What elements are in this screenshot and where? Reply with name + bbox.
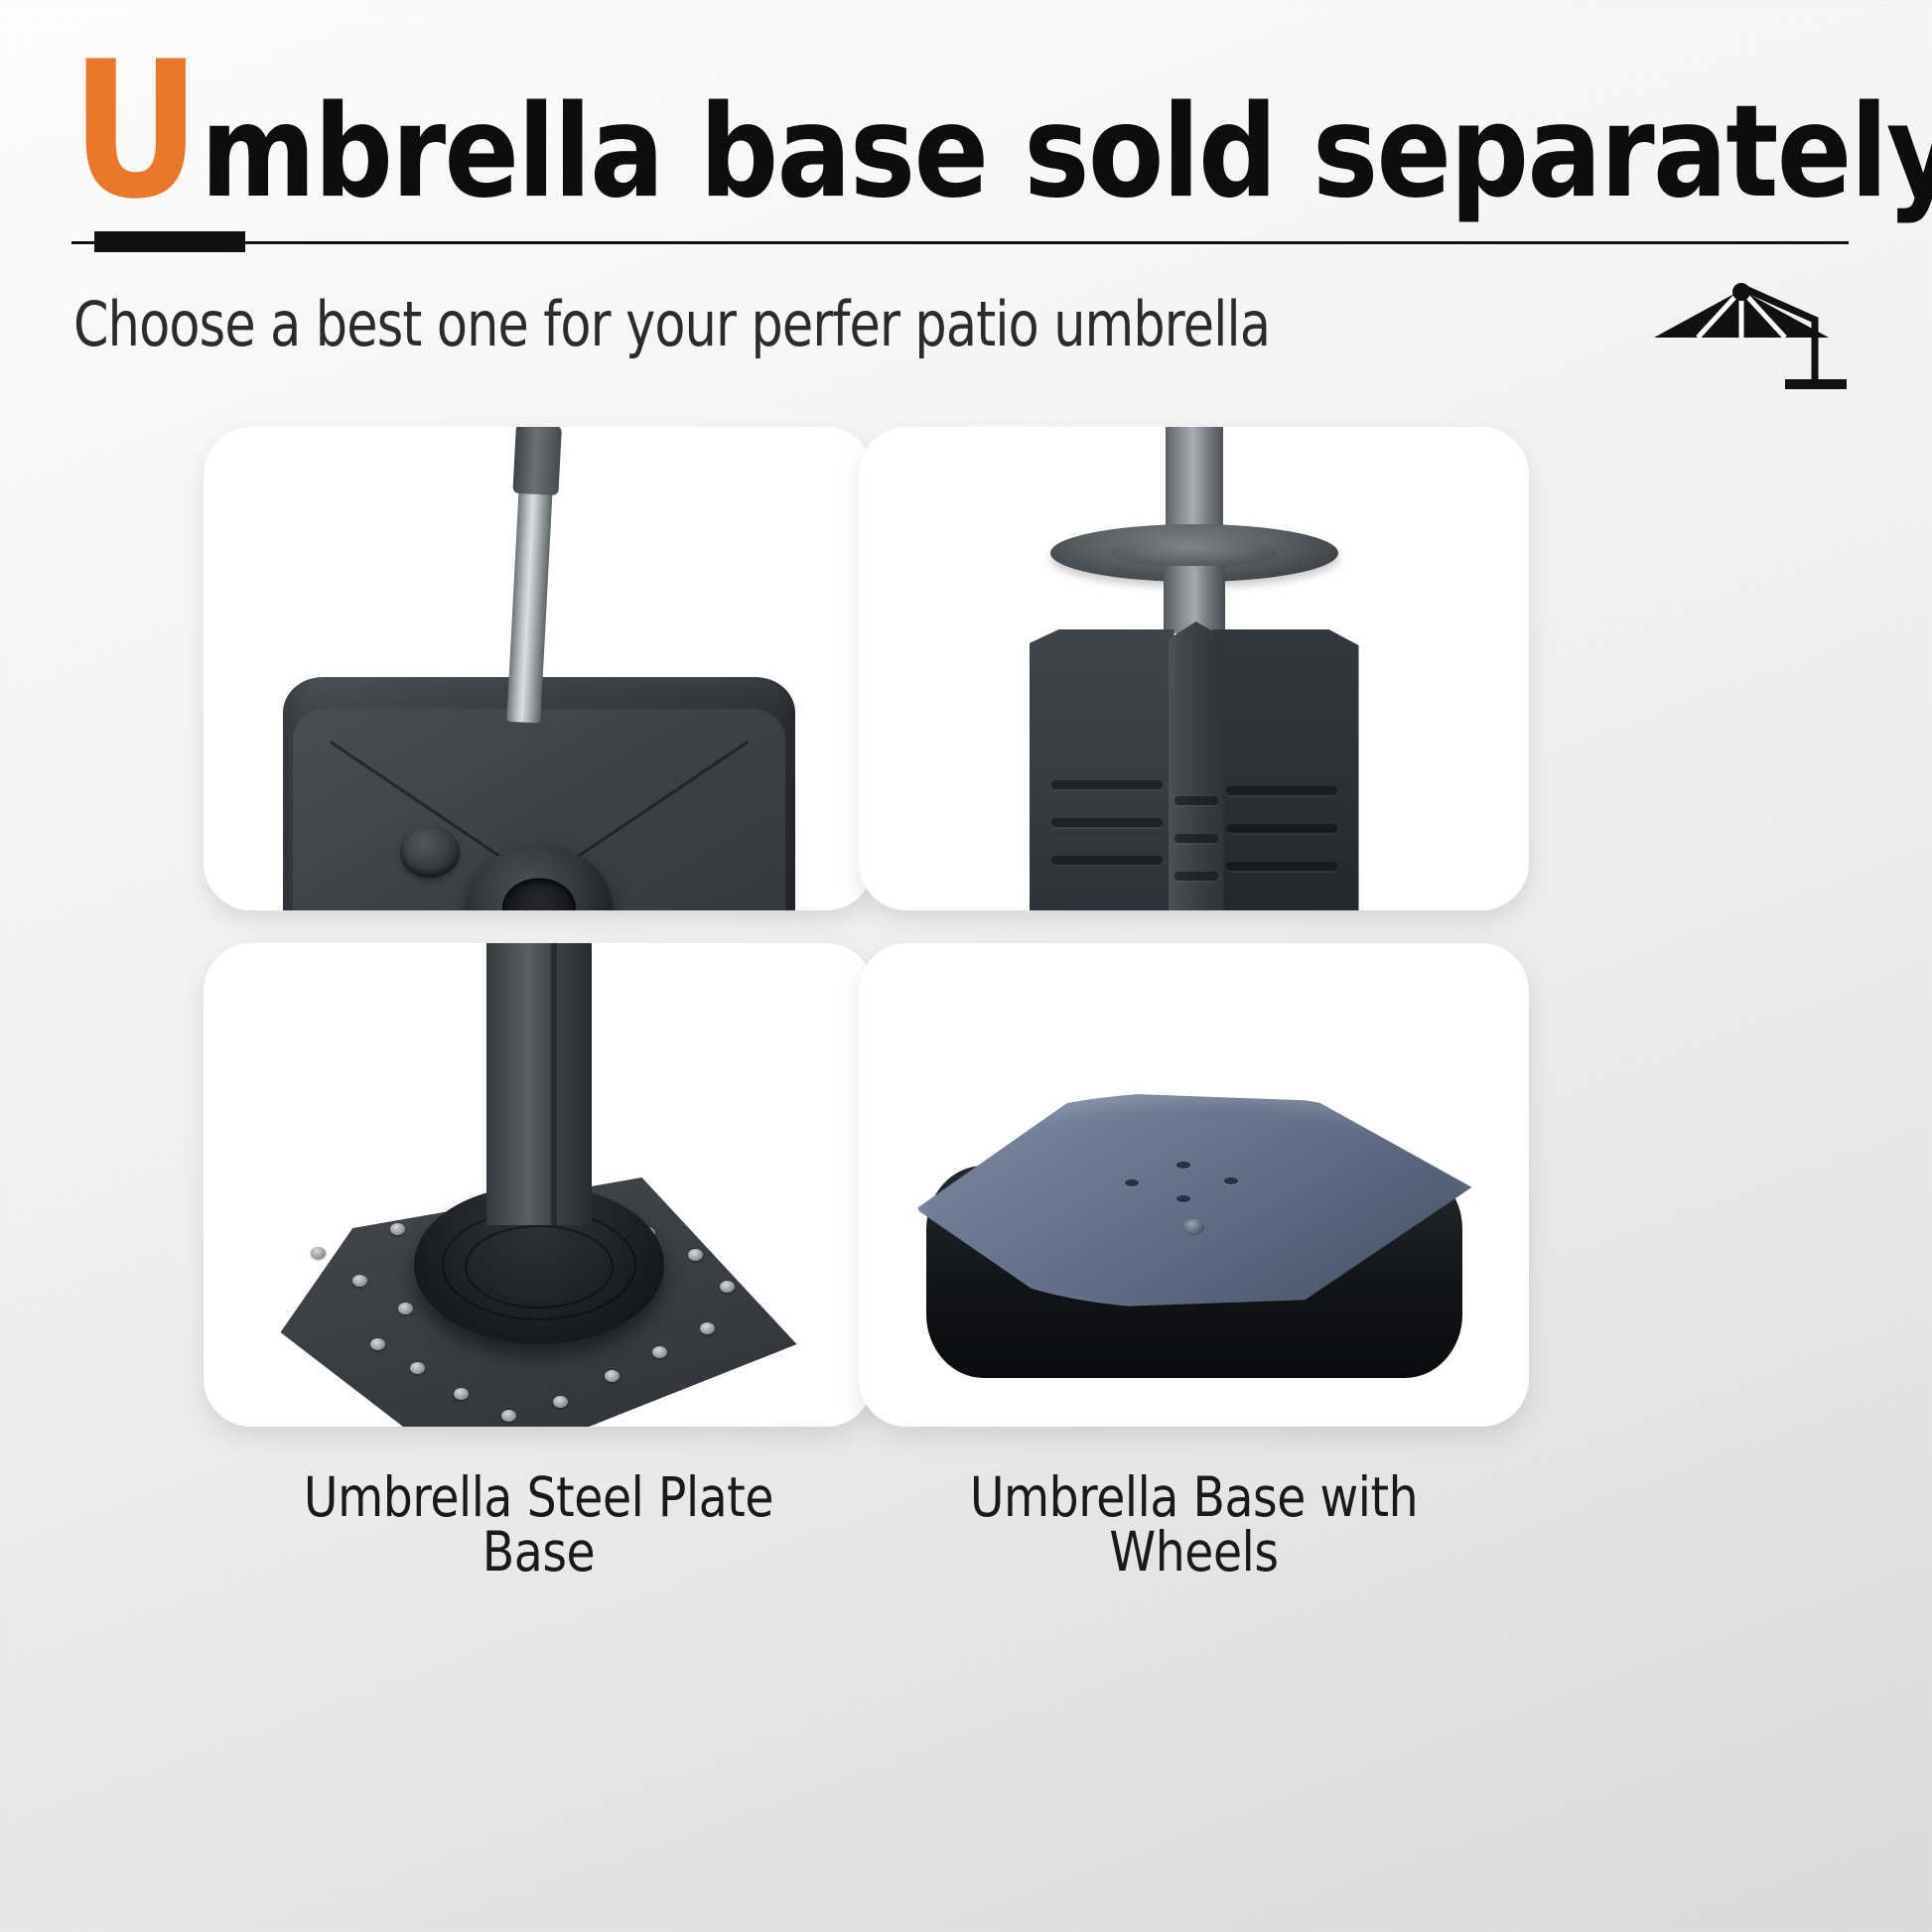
anchor-face-center	[1169, 621, 1224, 910]
base-rib	[557, 741, 748, 871]
plate-bolt	[720, 1281, 735, 1293]
plate-bolt	[688, 1249, 703, 1261]
plate-bolt	[410, 1362, 425, 1374]
plate-bolt	[501, 1410, 516, 1422]
header-divider-line	[71, 241, 1849, 244]
anchor-rib	[1226, 862, 1337, 871]
product-caption-steel-plate-base: Umbrella Steel Plate Base	[250, 1470, 827, 1580]
title-initial-letter: U	[71, 58, 196, 205]
mounting-hole	[1224, 1177, 1238, 1184]
hub-ring	[465, 1225, 614, 1309]
header-divider-accent	[94, 231, 245, 252]
page-header: U mbrella base sold separately Choose a …	[0, 0, 1932, 357]
product-cell-wheeled-base[interactable]: Umbrella Base with Wheels	[859, 943, 1732, 1580]
plate-bolt	[370, 1338, 385, 1350]
plate-bolt	[454, 1388, 469, 1400]
plate-bolt	[390, 1223, 405, 1235]
in-ground-anchor-body	[1030, 621, 1359, 910]
page-subtitle: Choose a best one for your perfer patio …	[73, 294, 1270, 355]
anchor-rib	[1226, 786, 1337, 795]
plate-bolt	[352, 1275, 367, 1287]
mounting-hole	[1176, 1162, 1190, 1169]
product-image-card-wheeled-base[interactable]	[859, 943, 1529, 1427]
anchor-rib	[1174, 872, 1218, 881]
plate-bolt	[311, 1247, 326, 1259]
anchor-face-left	[1030, 629, 1174, 910]
mounting-hole	[1125, 1179, 1139, 1186]
cantilever-umbrella-icon	[1640, 276, 1859, 401]
steel-plate-base-artwork	[204, 943, 874, 1427]
anchor-rib	[1051, 818, 1163, 827]
product-image-card-in-ground-base[interactable]	[859, 427, 1529, 910]
plate-bolt	[605, 1370, 620, 1382]
product-grid: 3 Sizes Water Base	[0, 427, 1932, 1932]
page-title: U mbrella base sold separately	[71, 58, 1932, 216]
product-image-card-steel-plate-base[interactable]	[204, 943, 874, 1427]
umbrella-pole-upper	[512, 427, 562, 495]
water-fill-cap	[400, 826, 460, 878]
in-ground-base-artwork	[859, 427, 1529, 910]
mounting-hole	[1176, 1195, 1190, 1202]
umbrella-pole	[486, 943, 592, 1225]
product-image-card-water-base[interactable]	[204, 427, 874, 910]
plate-bolt	[553, 1396, 568, 1408]
plate-bolt	[398, 1303, 413, 1314]
plate-bolt	[700, 1322, 715, 1334]
water-base-artwork	[204, 427, 874, 910]
anchor-rib	[1174, 834, 1218, 843]
anchor-rib	[1226, 824, 1337, 833]
plate-bolt	[652, 1346, 667, 1358]
center-bolt	[1182, 1219, 1204, 1235]
anchor-rib	[1051, 856, 1163, 865]
title-remainder: mbrella base sold separately	[201, 89, 1932, 216]
anchor-rib	[1174, 796, 1218, 805]
wheeled-base-artwork	[916, 1092, 1472, 1380]
anchor-rib	[1051, 780, 1163, 789]
product-caption-wheeled-base: Umbrella Base with Wheels	[905, 1470, 1482, 1580]
